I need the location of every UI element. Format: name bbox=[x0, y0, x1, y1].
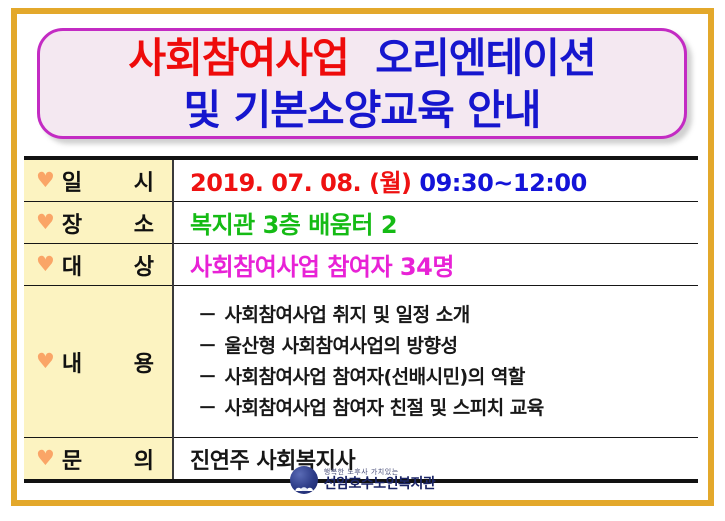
footer-logo-tagline: 행복한 노후사 가치있는 bbox=[324, 469, 435, 476]
label-location-char-1: 장 bbox=[62, 207, 82, 239]
title-line-1: 사회참여사업 오리엔테이션 bbox=[128, 32, 595, 84]
value-audience: 사회참여사업 참여자 34명 bbox=[190, 247, 698, 282]
table-row-audience: ♥ 대 상 사회참여사업 참여자 34명 bbox=[24, 244, 698, 286]
info-table: ♥ 일 시 2019. 07. 08. (월) 09:30~12:00 bbox=[24, 156, 698, 483]
welfare-center-logo-icon bbox=[290, 466, 318, 494]
label-cell-content: ♥ 내 용 bbox=[24, 286, 173, 438]
heart-icon: ♥ bbox=[36, 351, 55, 372]
value-cell-location: 복지관 3층 배움터 2 bbox=[173, 202, 698, 244]
title-banner: 사회참여사업 오리엔테이션 및 기본소양교육 안내 bbox=[37, 28, 687, 139]
title-blue-segment: 오리엔테이션 bbox=[375, 34, 595, 82]
dash-icon: － bbox=[198, 397, 217, 419]
label-cell-location: ♥ 장 소 bbox=[24, 202, 173, 244]
value-cell-content: －사회참여사업 취지 및 일정 소개 －울산형 사회참여사업의 방향성 －사회참… bbox=[173, 286, 698, 438]
dash-icon: － bbox=[198, 304, 217, 326]
list-item: －울산형 사회참여사업의 방향성 bbox=[198, 331, 698, 362]
title-red-segment: 사회참여사업 bbox=[128, 34, 348, 82]
footer-logo-name: 선암호수노인복지관 bbox=[324, 477, 435, 491]
content-bullet-text: 울산형 사회참여사업의 방향성 bbox=[225, 335, 458, 357]
value-location: 복지관 3층 배움터 2 bbox=[190, 205, 698, 240]
content-bullet-list: －사회참여사업 취지 및 일정 소개 －울산형 사회참여사업의 방향성 －사회참… bbox=[198, 300, 698, 424]
value-time: 09:30~12:00 bbox=[419, 169, 586, 197]
value-cell-datetime: 2019. 07. 08. (월) 09:30~12:00 bbox=[173, 158, 698, 202]
list-item: －사회참여사업 참여자 친절 및 스피치 교육 bbox=[198, 393, 698, 424]
label-datetime-char-1: 일 bbox=[62, 165, 82, 197]
label-datetime-char-2: 시 bbox=[134, 165, 154, 197]
footer-logo-text: 행복한 노후사 가치있는 선암호수노인복지관 bbox=[324, 469, 435, 491]
content-bullet-text: 사회참여사업 참여자(선배시민)의 역할 bbox=[225, 366, 525, 388]
table-row-location: ♥ 장 소 복지관 3층 배움터 2 bbox=[24, 202, 698, 244]
table-row-datetime: ♥ 일 시 2019. 07. 08. (월) 09:30~12:00 bbox=[24, 158, 698, 202]
dash-icon: － bbox=[198, 335, 217, 357]
title-line-2: 및 기본소양교육 안내 bbox=[183, 84, 540, 136]
label-location-char-2: 소 bbox=[134, 207, 154, 239]
label-content-char-2: 용 bbox=[134, 346, 154, 378]
label-audience-char-2: 상 bbox=[134, 249, 154, 281]
label-content-char-1: 내 bbox=[62, 346, 82, 378]
heart-icon: ♥ bbox=[36, 212, 55, 233]
poster-root: 사회참여사업 오리엔테이션 및 기본소양교육 안내 ♥ 일 시 bbox=[0, 0, 725, 521]
content-bullet-text: 사회참여사업 참여자 친절 및 스피치 교육 bbox=[225, 397, 544, 419]
heart-icon: ♥ bbox=[36, 170, 55, 191]
list-item: －사회참여사업 참여자(선배시민)의 역할 bbox=[198, 362, 698, 393]
list-item: －사회참여사업 취지 및 일정 소개 bbox=[198, 300, 698, 331]
table-row-content: ♥ 내 용 －사회참여사업 취지 및 일정 소개 －울산형 사회참여사업의 방향… bbox=[24, 286, 698, 438]
label-cell-audience: ♥ 대 상 bbox=[24, 244, 173, 286]
value-cell-audience: 사회참여사업 참여자 34명 bbox=[173, 244, 698, 286]
dash-icon: － bbox=[198, 366, 217, 388]
label-cell-datetime: ♥ 일 시 bbox=[24, 158, 173, 202]
value-date: 2019. 07. 08. (월) bbox=[190, 169, 412, 197]
label-audience-char-1: 대 bbox=[62, 249, 82, 281]
content-bullet-text: 사회참여사업 취지 및 일정 소개 bbox=[225, 304, 470, 326]
footer-logo: 행복한 노후사 가치있는 선암호수노인복지관 bbox=[0, 466, 725, 494]
heart-icon: ♥ bbox=[36, 254, 55, 275]
